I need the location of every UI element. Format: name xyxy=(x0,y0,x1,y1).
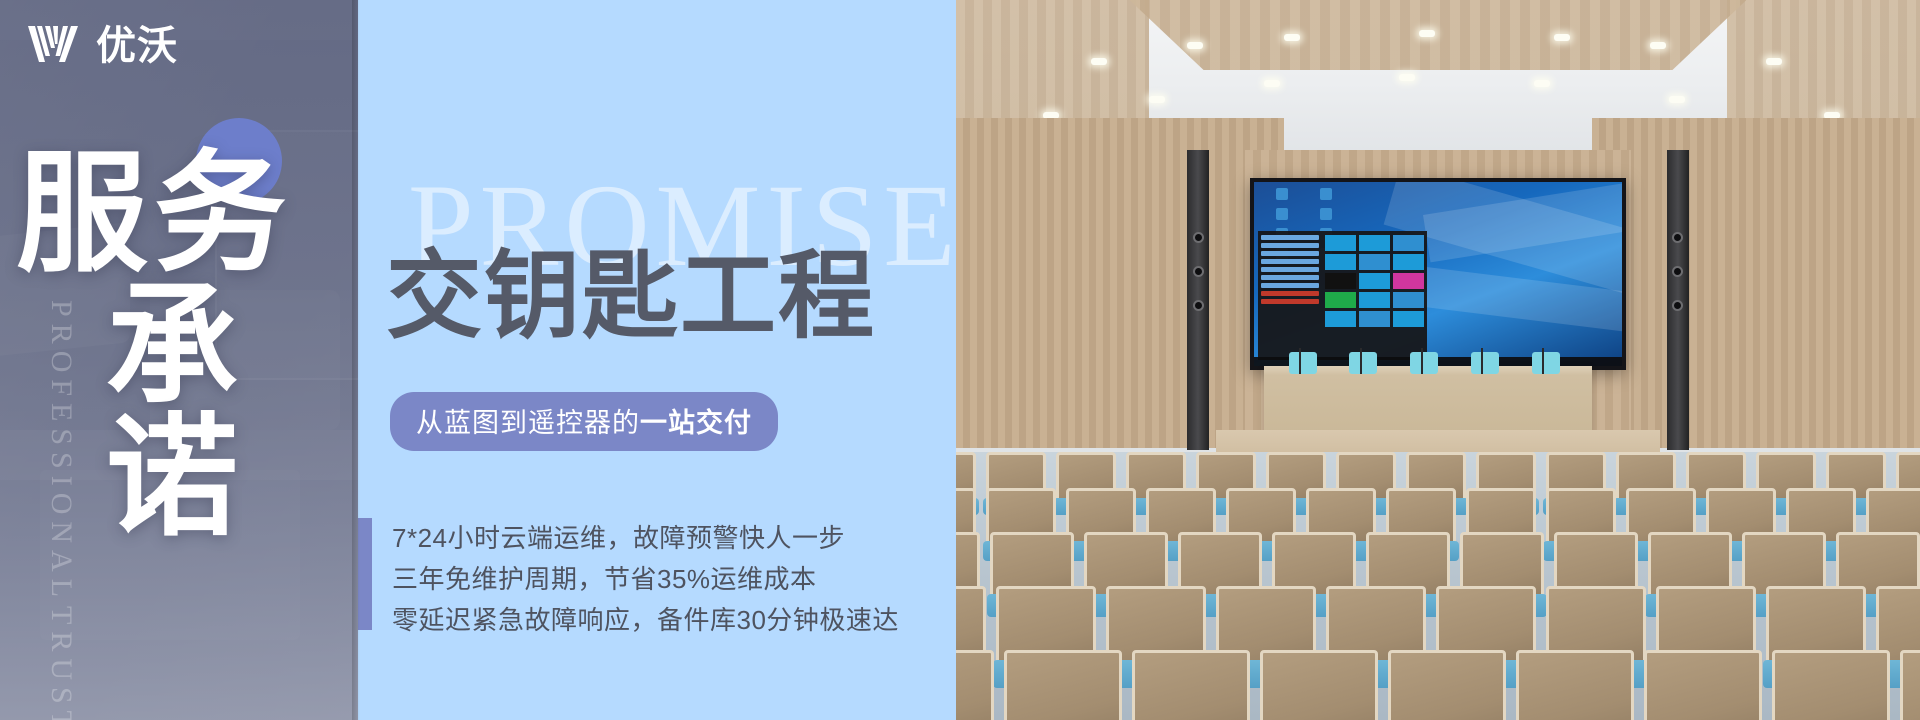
start-menu-app-list xyxy=(1258,231,1322,360)
ceiling-light-icon xyxy=(1187,42,1203,49)
speaker-dot-icon xyxy=(1672,266,1683,277)
ceiling-wood-left xyxy=(956,0,1149,130)
microphone-icon xyxy=(1542,348,1544,374)
vertical-tagline-professional: PROFESSIONAL xyxy=(44,300,78,604)
panel-divider-shadow xyxy=(352,0,360,720)
start-menu-tile xyxy=(1393,254,1424,270)
service-promise-banner: 优沃 PROFESSIONAL TRUSTED 服务 承诺 PROMISE 交钥… xyxy=(0,0,1920,720)
ceiling-wood-right xyxy=(1727,0,1920,130)
ceiling-light-icon xyxy=(1554,34,1570,41)
auditorium-seat xyxy=(1388,650,1506,720)
brand-logo[interactable]: 优沃 xyxy=(26,22,178,70)
conference-hall-photo xyxy=(956,0,1920,720)
podium-chair xyxy=(1471,352,1499,374)
microphone-icon xyxy=(1299,348,1301,374)
start-menu-tiles xyxy=(1322,231,1427,360)
ceiling-light-icon xyxy=(1766,58,1782,65)
start-menu-tile xyxy=(1359,254,1390,270)
start-menu-item xyxy=(1261,259,1319,264)
auditorium-seat xyxy=(1644,650,1762,720)
auditorium-seat xyxy=(1132,650,1250,720)
microphone-icon xyxy=(1421,348,1423,374)
windows-start-menu xyxy=(1258,231,1427,360)
desktop-icon xyxy=(1276,208,1288,220)
microphone-icon xyxy=(1481,348,1483,374)
start-menu-tile xyxy=(1393,292,1424,308)
ceiling-light-icon xyxy=(1419,30,1435,37)
podium-chair xyxy=(1532,352,1560,374)
start-menu-tile xyxy=(1325,254,1356,270)
auditorium-seat xyxy=(1004,650,1122,720)
body-copy-lines: 7*24小时云端运维，故障预警快人一步 三年免维护周期，节省35%运维成本 零延… xyxy=(392,518,899,641)
podium-chair xyxy=(1289,352,1317,374)
center-panel: PROMISE 交钥匙工程 从蓝图到遥控器的一站交付 7*24小时云端运维，故障… xyxy=(358,0,956,720)
auditorium-seat xyxy=(1260,650,1378,720)
auditorium-seat xyxy=(1900,650,1920,720)
start-menu-tile xyxy=(1393,311,1424,327)
start-menu-tile xyxy=(1325,311,1356,327)
subtitle-pill-prefix: 从蓝图到遥控器的 xyxy=(416,408,640,438)
start-menu-item xyxy=(1261,267,1319,272)
left-panel: 优沃 PROFESSIONAL TRUSTED 服务 承诺 xyxy=(0,0,358,720)
start-menu-item xyxy=(1261,235,1319,240)
start-menu-tile xyxy=(1359,311,1390,327)
auditorium-seat xyxy=(956,650,994,720)
ceiling-light-icon xyxy=(1264,80,1280,87)
podium-chair xyxy=(1349,352,1377,374)
subtitle-pill-highlight: 一站交付 xyxy=(640,408,752,438)
start-menu-tile xyxy=(1325,235,1356,251)
start-menu-tile xyxy=(1359,235,1390,251)
brand-logo-text: 优沃 xyxy=(96,26,178,66)
start-menu-tile xyxy=(1359,292,1390,308)
body-copy-block: 7*24小时云端运维，故障预警快人一步 三年免维护周期，节省35%运维成本 零延… xyxy=(358,518,899,641)
wall-right xyxy=(1592,118,1920,448)
start-menu-tile xyxy=(1359,273,1390,289)
start-menu-tile xyxy=(1393,273,1424,289)
ceiling-light-icon xyxy=(1284,34,1300,41)
uwo-w-logo-icon xyxy=(26,22,86,70)
ceiling-light-icon xyxy=(1091,58,1107,65)
auditorium-seat xyxy=(1772,650,1890,720)
desktop-icon xyxy=(1276,188,1288,200)
podium-chair xyxy=(1410,352,1438,374)
led-video-wall xyxy=(1250,178,1626,370)
start-menu-item xyxy=(1261,243,1319,248)
microphone-icon xyxy=(1360,348,1362,374)
start-menu-tile xyxy=(1325,292,1356,308)
start-menu-item xyxy=(1261,275,1319,280)
wall-left xyxy=(956,118,1284,448)
ceiling-light-icon xyxy=(1534,80,1550,87)
ceiling-light-icon xyxy=(1399,74,1415,81)
ceiling-light-icon xyxy=(1149,96,1165,103)
start-menu-tile xyxy=(1325,273,1356,289)
ceiling-wood-center xyxy=(1130,0,1747,70)
auditorium-seat xyxy=(1516,650,1634,720)
subtitle-pill: 从蓝图到遥控器的一站交付 xyxy=(390,392,778,451)
speaker-dot-icon xyxy=(1672,232,1683,243)
vertical-tagline-trusted: TRUSTED xyxy=(44,606,78,720)
center-headline: 交钥匙工程 xyxy=(386,248,876,344)
desktop-icon xyxy=(1320,208,1332,220)
start-menu-item xyxy=(1261,291,1319,296)
left-headline-line-1: 服务 xyxy=(16,148,292,280)
body-line-2: 三年免维护周期，节省35%运维成本 xyxy=(392,559,899,600)
speaker-dot-icon xyxy=(1672,300,1683,311)
ceiling-light-icon xyxy=(1650,42,1666,49)
ceiling-light-icon xyxy=(1669,96,1685,103)
start-menu-item xyxy=(1261,299,1319,304)
start-menu-tile xyxy=(1393,235,1424,251)
start-menu-item xyxy=(1261,251,1319,256)
body-line-3: 零延迟紧急故障响应，备件库30分钟极速达 xyxy=(392,600,899,641)
vertical-english-tagline: PROFESSIONAL TRUSTED xyxy=(44,300,78,720)
desktop-icon xyxy=(1320,188,1332,200)
body-line-1: 7*24小时云端运维，故障预警快人一步 xyxy=(392,518,899,559)
left-headline-line-2: 承诺 xyxy=(106,280,358,544)
start-menu-item xyxy=(1261,283,1319,288)
accent-bar xyxy=(358,518,372,630)
